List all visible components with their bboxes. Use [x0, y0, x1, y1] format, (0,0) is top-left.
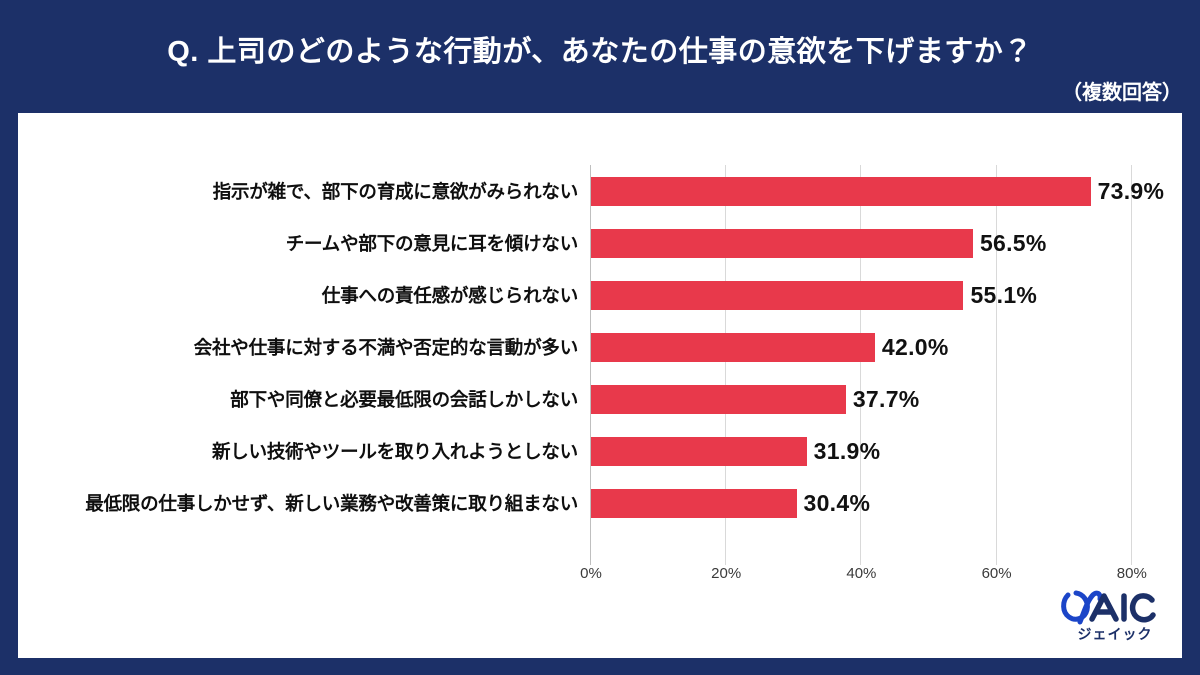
bar-row: 会社や仕事に対する不満や否定的な言動が多い42.0% — [18, 321, 1182, 373]
jaic-logo-subtext: ジェイック — [1056, 624, 1174, 644]
bar-rows: 指示が雑で、部下の育成に意欲がみられない73.9%チームや部下の意見に耳を傾けな… — [18, 113, 1182, 513]
bar-value-label: 37.7% — [853, 386, 920, 413]
bar-and-value: 73.9% — [591, 165, 1164, 217]
x-tick-label: 80% — [1117, 565, 1147, 582]
bar-chart: 指示が雑で、部下の育成に意欲がみられない73.9%チームや部下の意見に耳を傾けな… — [18, 113, 1182, 593]
bar — [591, 437, 807, 466]
bar — [591, 489, 797, 518]
bar — [591, 385, 846, 414]
x-axis-ticks: 0%20%40%60%80% — [18, 565, 1182, 591]
bar-value-label: 56.5% — [980, 230, 1047, 257]
category-label: 最低限の仕事しかせず、新しい業務や改善策に取り組まない — [18, 490, 578, 516]
jaic-logo: ジェイック — [1056, 588, 1174, 650]
bar-and-value: 56.5% — [591, 217, 1047, 269]
bar — [591, 333, 875, 362]
bar-value-label: 42.0% — [882, 334, 949, 361]
category-label: 部下や同僚と必要最低限の会話しかしない — [18, 386, 578, 412]
x-tick-label: 0% — [580, 565, 602, 582]
category-label: 仕事への責任感が感じられない — [18, 282, 578, 308]
bar-and-value: 30.4% — [591, 477, 870, 529]
x-tick-label: 20% — [711, 565, 741, 582]
bar-value-label: 31.9% — [814, 438, 881, 465]
category-label: 会社や仕事に対する不満や否定的な言動が多い — [18, 334, 578, 360]
bar-row: 新しい技術やツールを取り入れようとしない31.9% — [18, 425, 1182, 477]
slide-header: Q. 上司のどのような行動が、あなたの仕事の意欲を下げますか？ （複数回答） — [0, 0, 1200, 113]
bar — [591, 281, 963, 310]
slide-root: Q. 上司のどのような行動が、あなたの仕事の意欲を下げますか？ （複数回答） 指… — [0, 0, 1200, 675]
x-tick-label: 60% — [982, 565, 1012, 582]
category-label: 指示が雑で、部下の育成に意欲がみられない — [18, 178, 578, 204]
bar-row: 最低限の仕事しかせず、新しい業務や改善策に取り組まない30.4% — [18, 477, 1182, 529]
x-tick-label: 40% — [846, 565, 876, 582]
bar-value-label: 55.1% — [970, 282, 1037, 309]
bar-row: 指示が雑で、部下の育成に意欲がみられない73.9% — [18, 165, 1182, 217]
bar — [591, 177, 1091, 206]
bar — [591, 229, 973, 258]
bar-row: 部下や同僚と必要最低限の会話しかしない37.7% — [18, 373, 1182, 425]
bar-and-value: 37.7% — [591, 373, 920, 425]
category-label: チームや部下の意見に耳を傾けない — [18, 230, 578, 256]
bar-and-value: 55.1% — [591, 269, 1037, 321]
chart-card: 指示が雑で、部下の育成に意欲がみられない73.9%チームや部下の意見に耳を傾けな… — [18, 113, 1182, 658]
category-label: 新しい技術やツールを取り入れようとしない — [18, 438, 578, 464]
bar-and-value: 31.9% — [591, 425, 880, 477]
bar-value-label: 30.4% — [804, 490, 871, 517]
header-subtitle: （複数回答） — [1062, 76, 1182, 105]
bar-and-value: 42.0% — [591, 321, 949, 373]
page-title: Q. 上司のどのような行動が、あなたの仕事の意欲を下げますか？ — [0, 28, 1200, 70]
bar-row: 仕事への責任感が感じられない55.1% — [18, 269, 1182, 321]
jaic-logo-mark — [1056, 588, 1174, 628]
bar-row: チームや部下の意見に耳を傾けない56.5% — [18, 217, 1182, 269]
bar-value-label: 73.9% — [1098, 178, 1165, 205]
